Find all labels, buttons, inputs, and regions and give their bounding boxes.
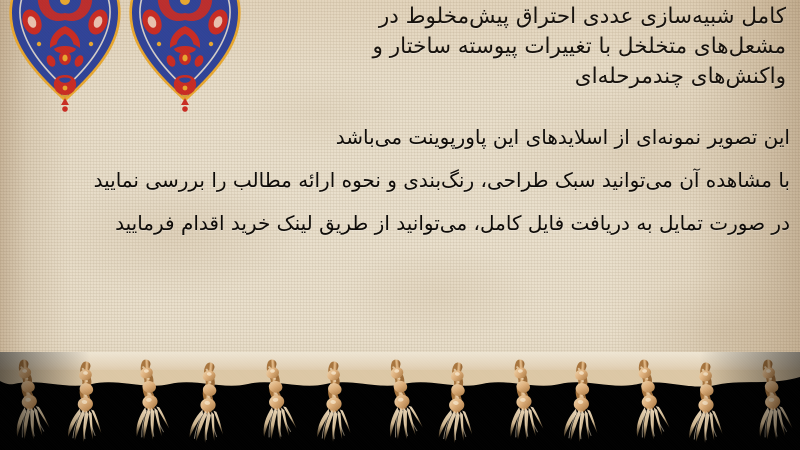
body-line-2: با مشاهده آن می‌توانید سبک طراحی، رنگ‌بن… bbox=[4, 159, 790, 202]
body-line-1: این تصویر نمونه‌ای از اسلایدهای این پاور… bbox=[4, 116, 790, 159]
body-line-3: در صورت تمایل به دریافت فایل کامل، می‌تو… bbox=[4, 202, 790, 245]
tassel-group bbox=[0, 352, 800, 450]
title-line-2: مشعل‌های متخلخل با تغییرات پیوسته ساختار… bbox=[0, 32, 786, 62]
slide-canvas: کامل شبیه‌سازی عددی احتراق پیش‌مخلوط در … bbox=[0, 0, 800, 450]
slide-title: کامل شبیه‌سازی عددی احتراق پیش‌مخلوط در … bbox=[0, 0, 786, 92]
title-line-3: واکنش‌های چندمرحله‌ای bbox=[0, 62, 786, 92]
carpet-tassel-fringe bbox=[0, 352, 800, 450]
slide-body-text: این تصویر نمونه‌ای از اسلایدهای این پاور… bbox=[4, 116, 790, 245]
title-line-1: کامل شبیه‌سازی عددی احتراق پیش‌مخلوط در bbox=[0, 2, 786, 32]
